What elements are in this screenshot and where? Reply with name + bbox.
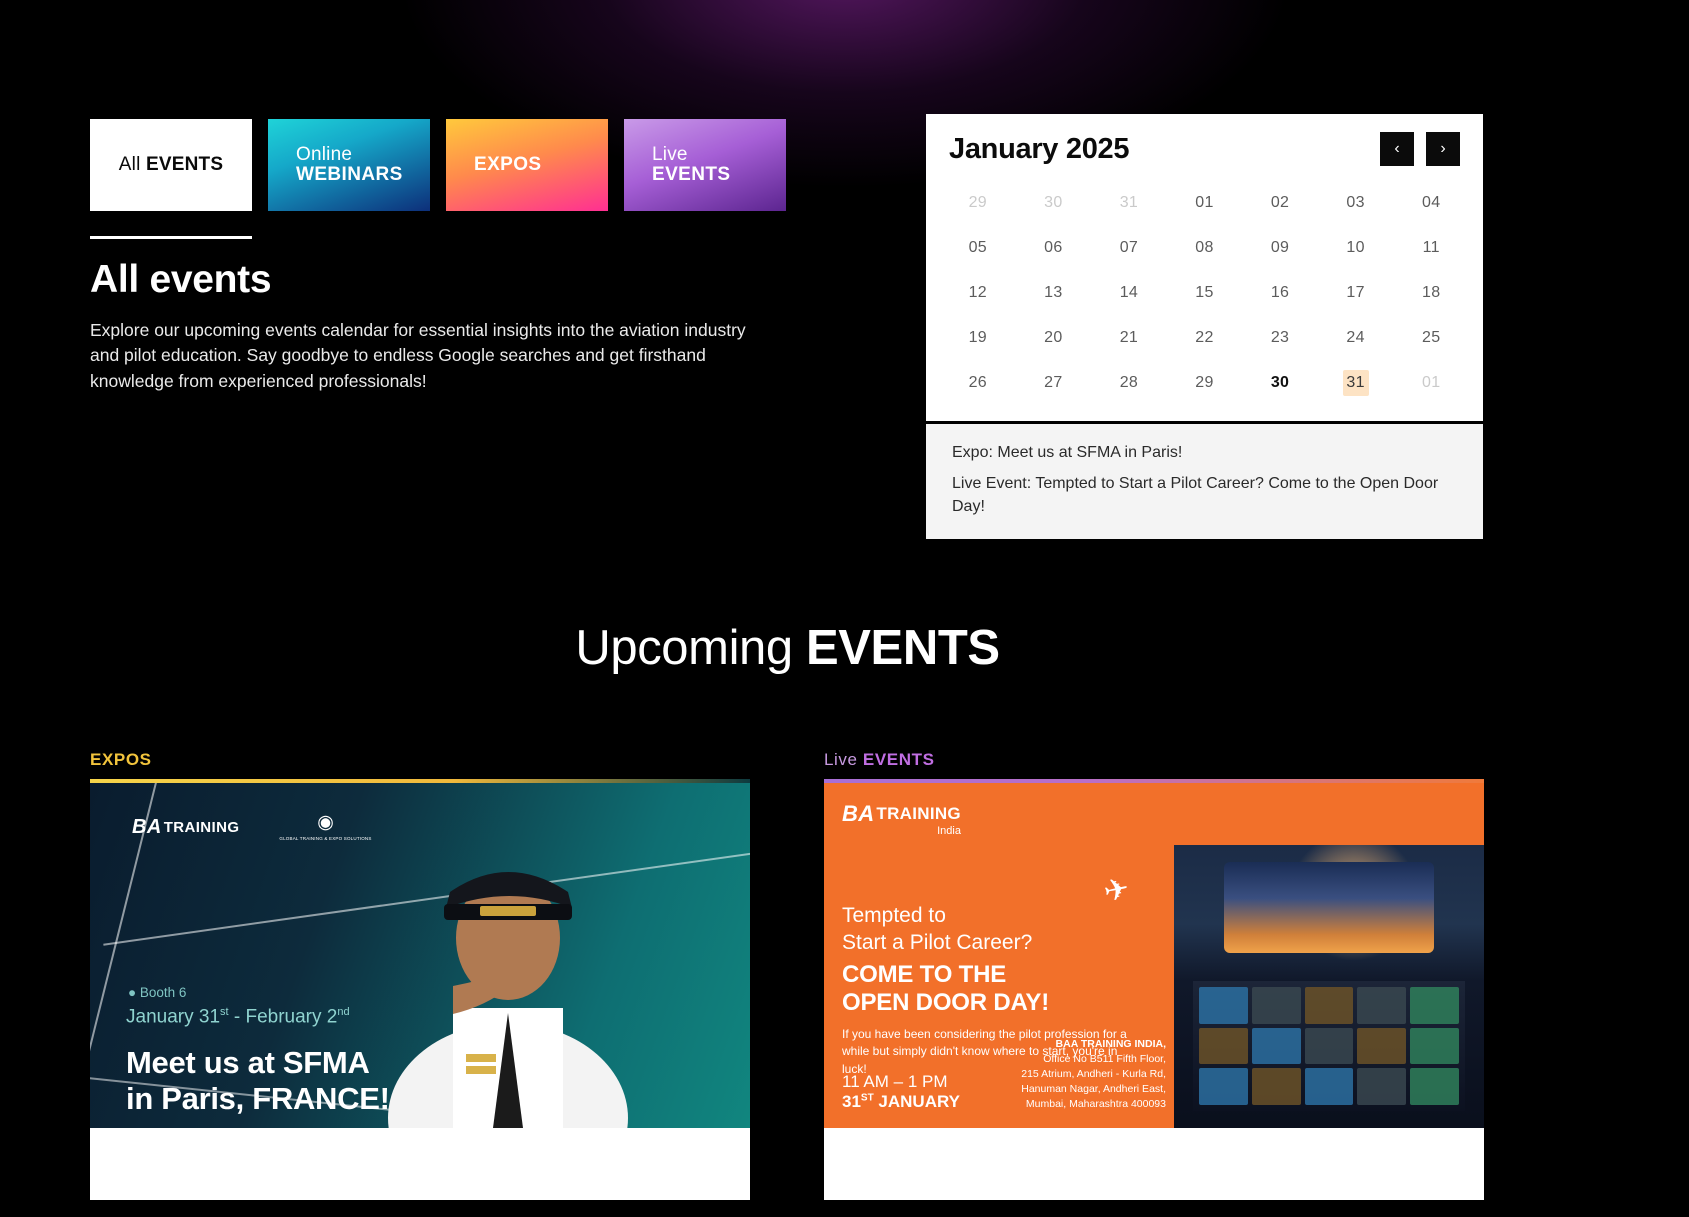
page-title: All events <box>90 258 770 302</box>
calendar-day[interactable]: 17 <box>1318 270 1394 315</box>
intro-section: All events Explore our upcoming events c… <box>90 258 770 394</box>
calendar-day[interactable]: 14 <box>1091 270 1167 315</box>
calendar-day[interactable]: 01 <box>1393 360 1469 405</box>
calendar-day[interactable]: 08 <box>1167 225 1243 270</box>
tab-online-webinars[interactable]: Online WEBINARS <box>268 119 430 211</box>
tab-live-events[interactable]: Live EVENTS <box>624 119 786 211</box>
baa-training-logo: BATRAINING <box>132 816 239 839</box>
calendar-day[interactable]: 12 <box>940 270 1016 315</box>
calendar-day[interactable]: 03 <box>1318 180 1394 225</box>
calendar-day[interactable]: 22 <box>1167 315 1243 360</box>
eye-icon: ◉ <box>317 812 334 833</box>
event-category-tabs: All EVENTS Online WEBINARS EXPOS Live EV… <box>90 119 786 211</box>
event-card-live-label: Live EVENTS <box>824 750 1484 779</box>
calendar-day[interactable]: 15 <box>1167 270 1243 315</box>
tab-expos[interactable]: EXPOS <box>446 119 608 211</box>
tab-active-underline <box>90 236 252 239</box>
upcoming-events-heading: Upcoming EVENTS <box>0 620 1575 676</box>
calendar-day[interactable]: 24 <box>1318 315 1394 360</box>
page-description: Explore our upcoming events calendar for… <box>90 318 770 394</box>
event-card-expo-label: EXPOS <box>90 750 750 779</box>
calendar-day[interactable]: 30 <box>1016 180 1092 225</box>
calendar-day[interactable]: 31 <box>1091 180 1167 225</box>
upcoming-heading-bold: EVENTS <box>806 621 1000 675</box>
tab-all-events-wrapper: All EVENTS <box>90 119 252 211</box>
calendar-nav: ‹ › <box>1380 132 1460 166</box>
tab-online-webinars-line2: WEBINARS <box>296 165 430 185</box>
chevron-left-icon[interactable]: ‹ <box>1380 132 1414 166</box>
calendar-event-item[interactable]: Expo: Meet us at SFMA in Paris! <box>952 441 1457 464</box>
calendar-day[interactable]: 28 <box>1091 360 1167 405</box>
calendar-day[interactable]: 30 <box>1242 360 1318 405</box>
expo-booth: ● Booth 6 <box>128 985 186 1000</box>
calendar-widget: January 2025 ‹ › 29303101020304050607080… <box>926 114 1483 539</box>
upcoming-heading-light: Upcoming <box>575 621 806 675</box>
event-card-expo-body <box>90 1128 750 1200</box>
live-headline: COME TO THE OPEN DOOR DAY! <box>842 961 1049 1018</box>
expo-logo-row: BATRAINING ◉ GLOBAL TRAINING & EXPO SOLU… <box>132 813 372 841</box>
live-address-block: BAA TRAINING INDIA, Office No B511 Fifth… <box>926 1037 1166 1112</box>
cockpit-window <box>1224 862 1435 953</box>
calendar-day[interactable]: 29 <box>1167 360 1243 405</box>
calendar-day[interactable]: 16 <box>1242 270 1318 315</box>
calendar-day[interactable]: 09 <box>1242 225 1318 270</box>
calendar-day[interactable]: 29 <box>940 180 1016 225</box>
tab-live-events-line2: EVENTS <box>652 165 786 185</box>
calendar-day[interactable]: 05 <box>940 225 1016 270</box>
expo-dates: January 31st - February 2nd <box>126 1006 350 1028</box>
calendar-day[interactable]: 02 <box>1242 180 1318 225</box>
calendar-day[interactable]: 21 <box>1091 315 1167 360</box>
calendar-day[interactable]: 27 <box>1016 360 1092 405</box>
event-card-live[interactable]: Live EVENTS BATRAINING India ✈ Tempted t… <box>824 750 1484 1200</box>
tab-all-events-label: All EVENTS <box>119 155 223 175</box>
calendar-grid: 2930310102030405060708091011121314151617… <box>926 172 1483 421</box>
calendar-day[interactable]: 07 <box>1091 225 1167 270</box>
paper-plane-icon: ✈ <box>1101 871 1133 910</box>
calendar-day[interactable]: 11 <box>1393 225 1469 270</box>
event-card-live-image: BATRAINING India ✈ Tempted to Start a Pi… <box>824 783 1484 1128</box>
calendar-day[interactable]: 20 <box>1016 315 1092 360</box>
expo-headline: Meet us at SFMA in Paris, FRANCE! <box>126 1045 390 1118</box>
calendar-event-item[interactable]: Live Event: Tempted to Start a Pilot Car… <box>952 472 1457 518</box>
calendar-day[interactable]: 01 <box>1167 180 1243 225</box>
tab-online-webinars-line1: Online <box>296 145 430 165</box>
event-card-live-body <box>824 1128 1484 1200</box>
tab-expos-label: EXPOS <box>474 155 608 175</box>
calendar-day[interactable]: 10 <box>1318 225 1394 270</box>
cockpit-instrument-panel <box>1193 981 1466 1111</box>
calendar-header: January 2025 ‹ › <box>926 114 1483 172</box>
event-card-expo[interactable]: EXPOS BATRAINING ◉ GLOBAL TRAINING & EXP… <box>90 750 750 1200</box>
cockpit-photo <box>1174 845 1484 1128</box>
calendar-day[interactable]: 23 <box>1242 315 1318 360</box>
baa-training-india-logo: BATRAINING India <box>842 801 961 837</box>
calendar-month-title: January 2025 <box>949 133 1129 166</box>
calendar-event-list: Expo: Meet us at SFMA in Paris!Live Even… <box>926 421 1483 539</box>
calendar-day[interactable]: 19 <box>940 315 1016 360</box>
tab-all-events[interactable]: All EVENTS <box>90 119 252 211</box>
live-subheadline: Tempted to Start a Pilot Career? <box>842 903 1032 957</box>
calendar-day[interactable]: 13 <box>1016 270 1092 315</box>
event-card-expo-image: BATRAINING ◉ GLOBAL TRAINING & EXPO SOLU… <box>90 783 750 1128</box>
calendar-day[interactable]: 26 <box>940 360 1016 405</box>
calendar-day[interactable]: 06 <box>1016 225 1092 270</box>
calendar-day[interactable]: 18 <box>1393 270 1469 315</box>
calendar-day[interactable]: 31 <box>1343 370 1369 396</box>
pilot-photo <box>358 818 658 1128</box>
calendar-day[interactable]: 25 <box>1393 315 1469 360</box>
tab-live-events-line1: Live <box>652 145 786 165</box>
chevron-right-icon[interactable]: › <box>1426 132 1460 166</box>
calendar-day[interactable]: 04 <box>1393 180 1469 225</box>
